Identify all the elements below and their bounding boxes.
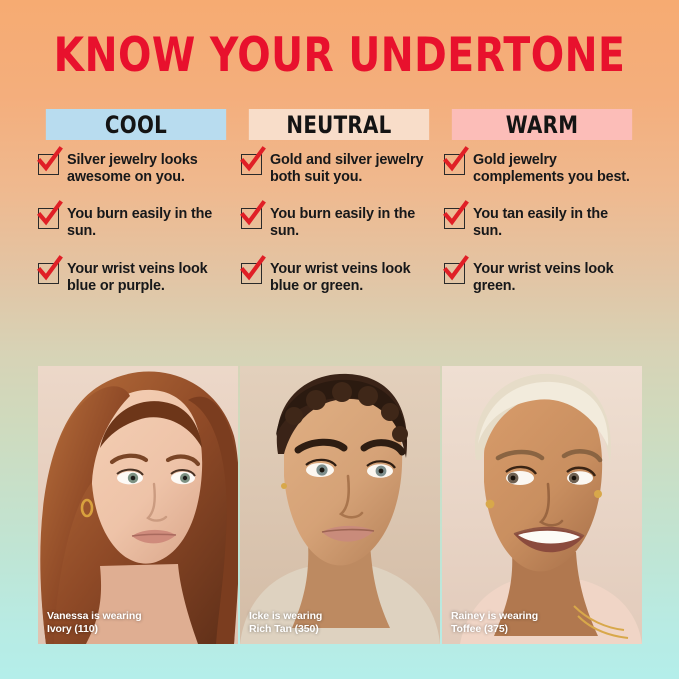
checklist-item: Gold and silver jewelry both suit you. (241, 152, 437, 187)
checkmark-icon (38, 208, 59, 229)
checklist-column-warm: Gold jewelry complements you best. You t… (444, 152, 640, 295)
photo-caption-line2: Rich Tan (350) (249, 623, 322, 636)
photo-caption-line2: Ivory (110) (47, 623, 142, 636)
checklist-item: Your wrist veins look blue or purple. (38, 261, 234, 296)
category-header-row: COOL NEUTRAL WARM (38, 109, 642, 140)
checklist-columns: Silver jewelry looks awesome on you. You… (38, 152, 658, 295)
photo-caption-line1: Rainey is wearing (451, 610, 538, 623)
model-photo-strip: Vanessa is wearing Ivory (110) (38, 366, 642, 644)
portrait-vanessa (38, 366, 238, 644)
checkmark-icon (241, 263, 262, 284)
checkmark-icon (241, 208, 262, 229)
checkmark-icon (444, 263, 465, 284)
photo-caption-neutral: Icke is wearing Rich Tan (350) (249, 610, 322, 635)
checklist-item-label: You burn easily in the sun. (67, 206, 234, 241)
checklist-column-neutral: Gold and silver jewelry both suit you. Y… (241, 152, 437, 295)
checkmark-icon (444, 208, 465, 229)
category-header-warm: WARM (452, 109, 632, 140)
checklist-item-label: Gold and silver jewelry both suit you. (270, 152, 437, 187)
checkmark-icon (444, 154, 465, 175)
checklist-column-cool: Silver jewelry looks awesome on you. You… (38, 152, 234, 295)
checklist-item: You tan easily in the sun. (444, 206, 640, 241)
photo-caption-warm: Rainey is wearing Toffee (375) (451, 610, 538, 635)
checklist-item: Gold jewelry complements you best. (444, 152, 640, 187)
checklist-item: You burn easily in the sun. (241, 206, 437, 241)
checklist-item-label: Gold jewelry complements you best. (473, 152, 640, 187)
model-photo-neutral: Icke is wearing Rich Tan (350) (240, 366, 440, 644)
portrait-rainey (442, 366, 642, 644)
photo-caption-line1: Icke is wearing (249, 610, 322, 623)
checklist-item: Your wrist veins look green. (444, 261, 640, 296)
checklist-item: Silver jewelry looks awesome on you. (38, 152, 234, 187)
page-title: KNOW YOUR UNDERTONE (24, 31, 655, 81)
portrait-icke (240, 366, 440, 644)
photo-caption-line1: Vanessa is wearing (47, 610, 142, 623)
checkmark-icon (38, 263, 59, 284)
checkmark-icon (38, 154, 59, 175)
checklist-item-label: Your wrist veins look blue or green. (270, 261, 437, 296)
checkmark-icon (241, 154, 262, 175)
model-photo-warm: Rainey is wearing Toffee (375) (442, 366, 642, 644)
photo-caption-cool: Vanessa is wearing Ivory (110) (47, 610, 142, 635)
model-photo-cool: Vanessa is wearing Ivory (110) (38, 366, 238, 644)
checklist-item-label: You tan easily in the sun. (473, 206, 640, 241)
checklist-item-label: You burn easily in the sun. (270, 206, 437, 241)
photo-caption-line2: Toffee (375) (451, 623, 538, 636)
category-header-cool: COOL (46, 109, 226, 140)
checklist-item: You burn easily in the sun. (38, 206, 234, 241)
undertone-infographic: KNOW YOUR UNDERTONE COOL NEUTRAL WARM Si… (0, 0, 679, 679)
checklist-item-label: Your wrist veins look green. (473, 261, 640, 296)
category-header-neutral: NEUTRAL (249, 109, 429, 140)
checklist-item: Your wrist veins look blue or green. (241, 261, 437, 296)
checklist-item-label: Silver jewelry looks awesome on you. (67, 152, 234, 187)
checklist-item-label: Your wrist veins look blue or purple. (67, 261, 234, 296)
